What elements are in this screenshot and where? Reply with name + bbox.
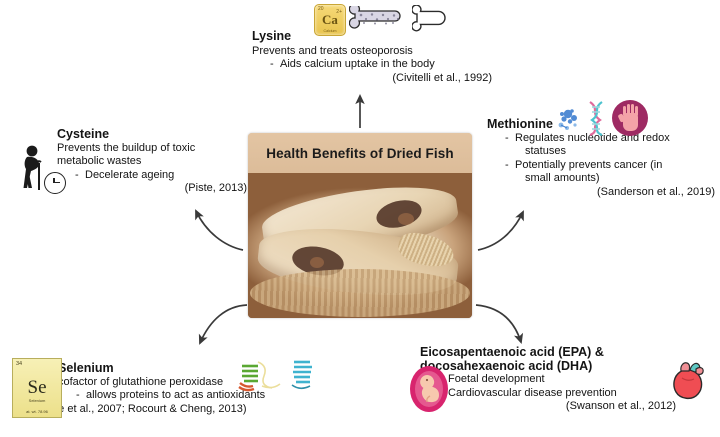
bullet-dash: - [75, 169, 85, 183]
bullet-dash: - [505, 159, 515, 173]
clock-icon [44, 172, 66, 194]
selenium-weight: at. wt. 78.96 [13, 409, 61, 414]
block-cysteine: Cysteine Prevents the buildup of toxic m… [57, 128, 247, 196]
hand-circle-icon [612, 100, 648, 136]
block-lysine-line-1: Prevents and treats osteoporosis [252, 45, 492, 59]
block-lysine-title: Lysine [252, 30, 291, 44]
block-lysine: Lysine Prevents and treats osteoporosis … [252, 30, 492, 85]
heart-icon [668, 358, 708, 404]
block-cysteine-line-1: Prevents the buildup of toxic [57, 142, 247, 156]
arrow-to-selenium [200, 305, 247, 343]
protein-ribbon-icon [236, 352, 320, 396]
selenium-name: Selenium [13, 398, 61, 403]
page-title: Health Benefits of Dried Fish [248, 133, 472, 173]
selenium-element-tile-icon: 34 Se Selenium at. wt. 78.96 [12, 358, 62, 418]
block-epa-dha-title2: docosahexaenoic acid (DHA) [420, 360, 676, 374]
block-epa-dha-citation: (Swanson et al., 2012) [420, 400, 676, 414]
bullet-dash: - [505, 132, 515, 146]
block-epa-dha-line-2: Cardiovascular disease prevention [448, 387, 617, 399]
arrow-to-cysteine [196, 211, 243, 250]
block-cysteine-line-3-wrap: -Decelerate ageing [57, 169, 247, 183]
block-epa-dha-title: Eicosapentaenoic acid (EPA) & [420, 346, 676, 360]
block-epa-dha: Eicosapentaenoic acid (EPA) & docosahexa… [420, 346, 676, 414]
molecule-icon [556, 105, 586, 135]
block-methionine-line-3: Potentially prevents cancer (in [515, 159, 662, 171]
block-cysteine-citation: (Piste, 2013) [57, 182, 247, 196]
block-epa-dha-line-2-wrap: -Cardiovascular disease prevention [420, 387, 676, 401]
arrow-to-methionine [478, 212, 523, 250]
elderly-person-icon [14, 144, 48, 194]
block-lysine-line-2-wrap: -Aids calcium uptake in the body [252, 58, 492, 72]
block-methionine-line-3-wrap: -Potentially prevents cancer (in [487, 159, 715, 173]
block-cysteine-title: Cysteine [57, 128, 247, 142]
bullet-dash: - [76, 389, 86, 403]
center-card: Health Benefits of Dried Fish [248, 133, 472, 318]
block-lysine-line-2: Aids calcium uptake in the body [280, 58, 435, 70]
block-lysine-citation: (Civitelli et al., 1992) [252, 72, 492, 86]
calcium-symbol: Ca [315, 12, 345, 28]
selenium-atomic-number: 34 [16, 361, 22, 367]
block-methionine-citation: (Sanderson et al., 2019) [487, 186, 715, 200]
infographic-canvas: Health Benefits of Dried Fish Lysine Pre… [0, 0, 720, 437]
dried-fish-photo [248, 173, 472, 318]
bullet-dash: - [270, 58, 280, 72]
block-cysteine-line-3: Decelerate ageing [85, 169, 174, 181]
block-epa-dha-line-1: Foetal development [448, 373, 545, 385]
bone-textured-icon [349, 6, 411, 34]
dna-helix-icon [584, 100, 608, 136]
arrow-to-epa-dha [476, 305, 521, 342]
calcium-name: Calcium [315, 29, 345, 33]
bone-outline-icon [412, 5, 456, 35]
block-cysteine-line-2: metabolic wastes [57, 155, 247, 169]
calcium-element-tile-icon: 20 2+ Ca Calcium [314, 4, 346, 36]
selenium-symbol: Se [13, 377, 61, 399]
block-epa-dha-line-1-wrap: -Foetal development [420, 373, 676, 387]
block-methionine-line-4: small amounts) [487, 172, 715, 186]
foetus-icon [408, 364, 450, 414]
block-methionine-line-2: statuses [487, 145, 715, 159]
